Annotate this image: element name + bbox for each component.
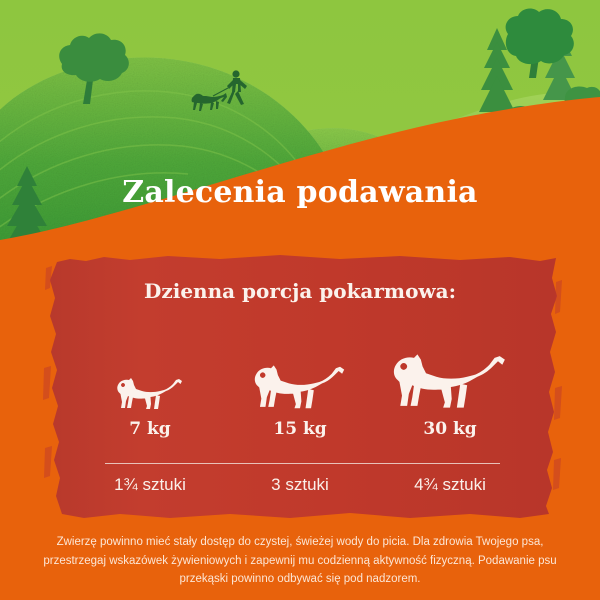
dog-weight-label: 15 kg xyxy=(273,421,326,438)
dog-large-icon xyxy=(388,339,512,411)
dog-weight-label: 30 kg xyxy=(423,421,476,438)
panel-heading: Dzienna porcja pokarmowa: xyxy=(0,281,600,301)
portion-label-small: 1¾ sztuki xyxy=(75,476,225,495)
feeding-column-small: 7 kg xyxy=(75,328,225,438)
dog-small-icon xyxy=(114,369,186,411)
footer-note: Zwierzę powinno mieć stały dostęp do czy… xyxy=(42,533,558,589)
red-panel-content: Dzienna porcja pokarmowa: 7 kg xyxy=(0,248,600,523)
dog-size-row: 7 kg 15 kg xyxy=(75,328,525,438)
feeding-column-medium: 15 kg xyxy=(225,328,375,438)
feeding-column-large: 30 kg xyxy=(375,328,525,438)
dog-weight-label: 7 kg xyxy=(129,421,170,438)
portion-row: 1¾ sztuki 3 sztuki 4¾ sztuki xyxy=(75,476,525,495)
panel-divider xyxy=(105,463,500,464)
feeding-guide-page: Zalecenia podawania Dzienna porcja pokar… xyxy=(0,0,600,600)
page-title: Zalecenia podawania xyxy=(0,178,600,208)
portion-label-medium: 3 sztuki xyxy=(225,476,375,495)
dog-medium-icon xyxy=(250,353,350,411)
portion-label-large: 4¾ sztuki xyxy=(375,476,525,495)
